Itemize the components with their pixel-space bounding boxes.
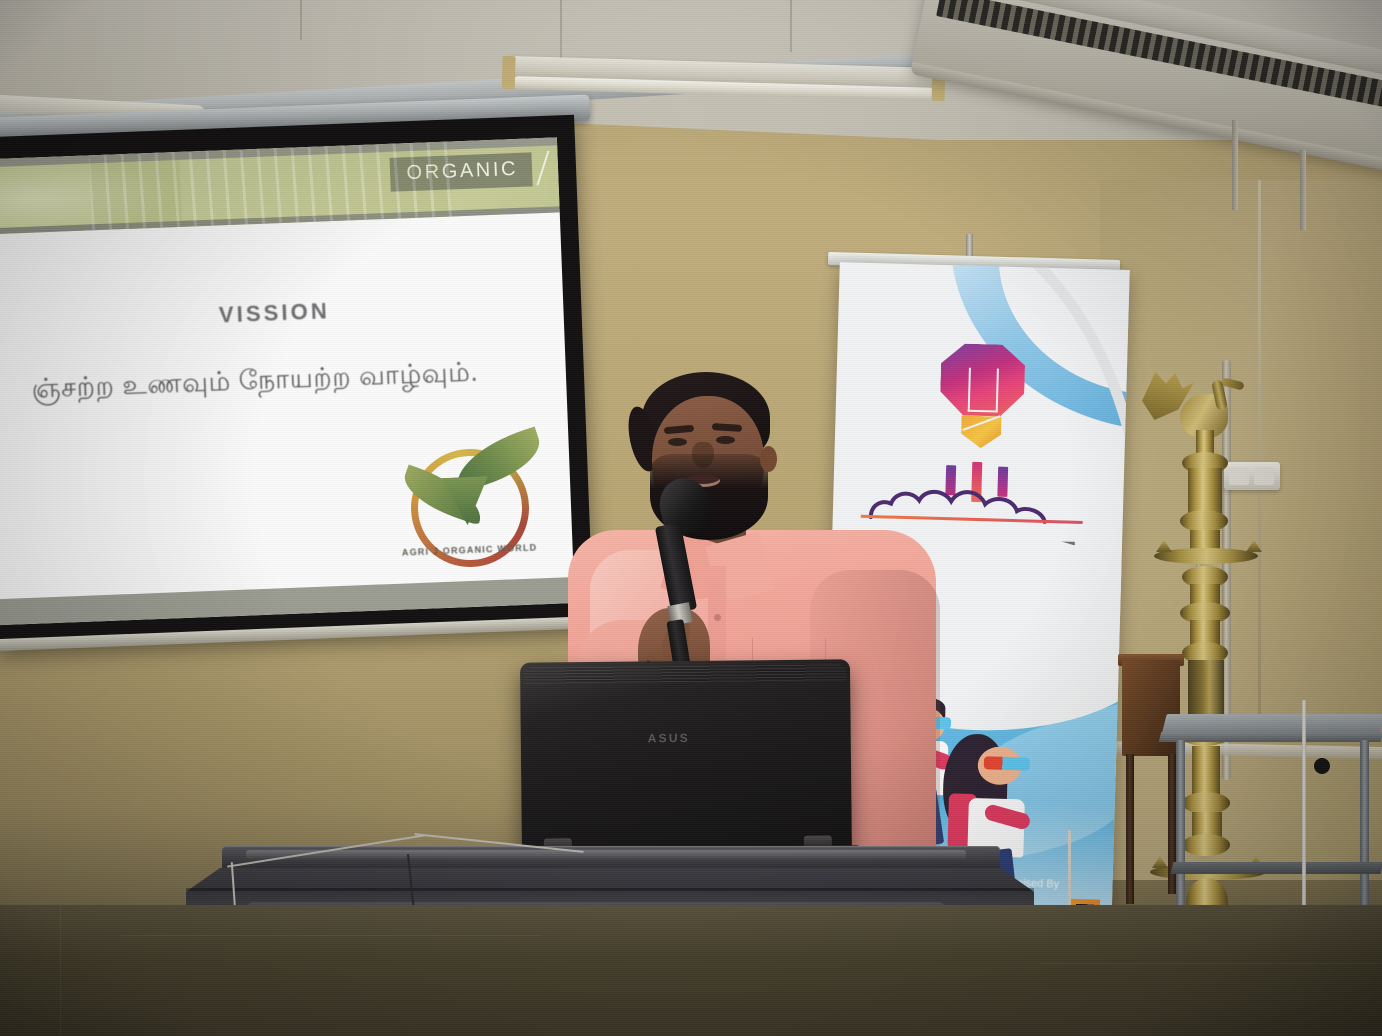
laptop-lid <box>520 659 852 854</box>
ac-support-rod <box>1232 120 1238 210</box>
slide-organic-label: ORGANIC <box>406 158 518 184</box>
side-table <box>1164 714 1382 924</box>
slide-header-band: ORGANIC <box>0 137 560 234</box>
slide-organic-badge: ORGANIC <box>390 152 533 191</box>
presentation-slide: ORGANIC VISSION ஞ்சற்ற உணவும் நோயற்ற வாழ… <box>0 137 575 625</box>
slide-organic-slash-icon <box>537 150 550 185</box>
white-wall-cable <box>1302 700 1306 930</box>
agri-organic-world-logo-icon: AGRI J ORGANIC WORLD <box>392 430 543 562</box>
ac-support-rod <box>1300 150 1306 230</box>
slide-footer-band <box>0 577 575 625</box>
side-table-knob-icon <box>1314 758 1330 774</box>
laptop-brand-logo: ASUS <box>648 731 710 744</box>
floor <box>0 905 1382 1036</box>
presentation-photo: ORGANIC VISSION ஞ்சற்ற உணவும் நோயற்ற வாழ… <box>0 0 1382 1036</box>
slide-tamil-text: ஞ்சற்ற உணவும் நோயற்ற வாழ்வும். <box>0 354 545 411</box>
laptop[interactable]: ASUS <box>520 659 852 862</box>
side-table-shelf <box>1171 862 1382 874</box>
projector-screen: ORGANIC VISSION ஞ்சற்ற உணவும் நோயற்ற வாழ… <box>0 115 594 648</box>
lightbulb-logo-icon <box>931 343 1034 456</box>
slide-title: VISSION <box>0 289 564 337</box>
